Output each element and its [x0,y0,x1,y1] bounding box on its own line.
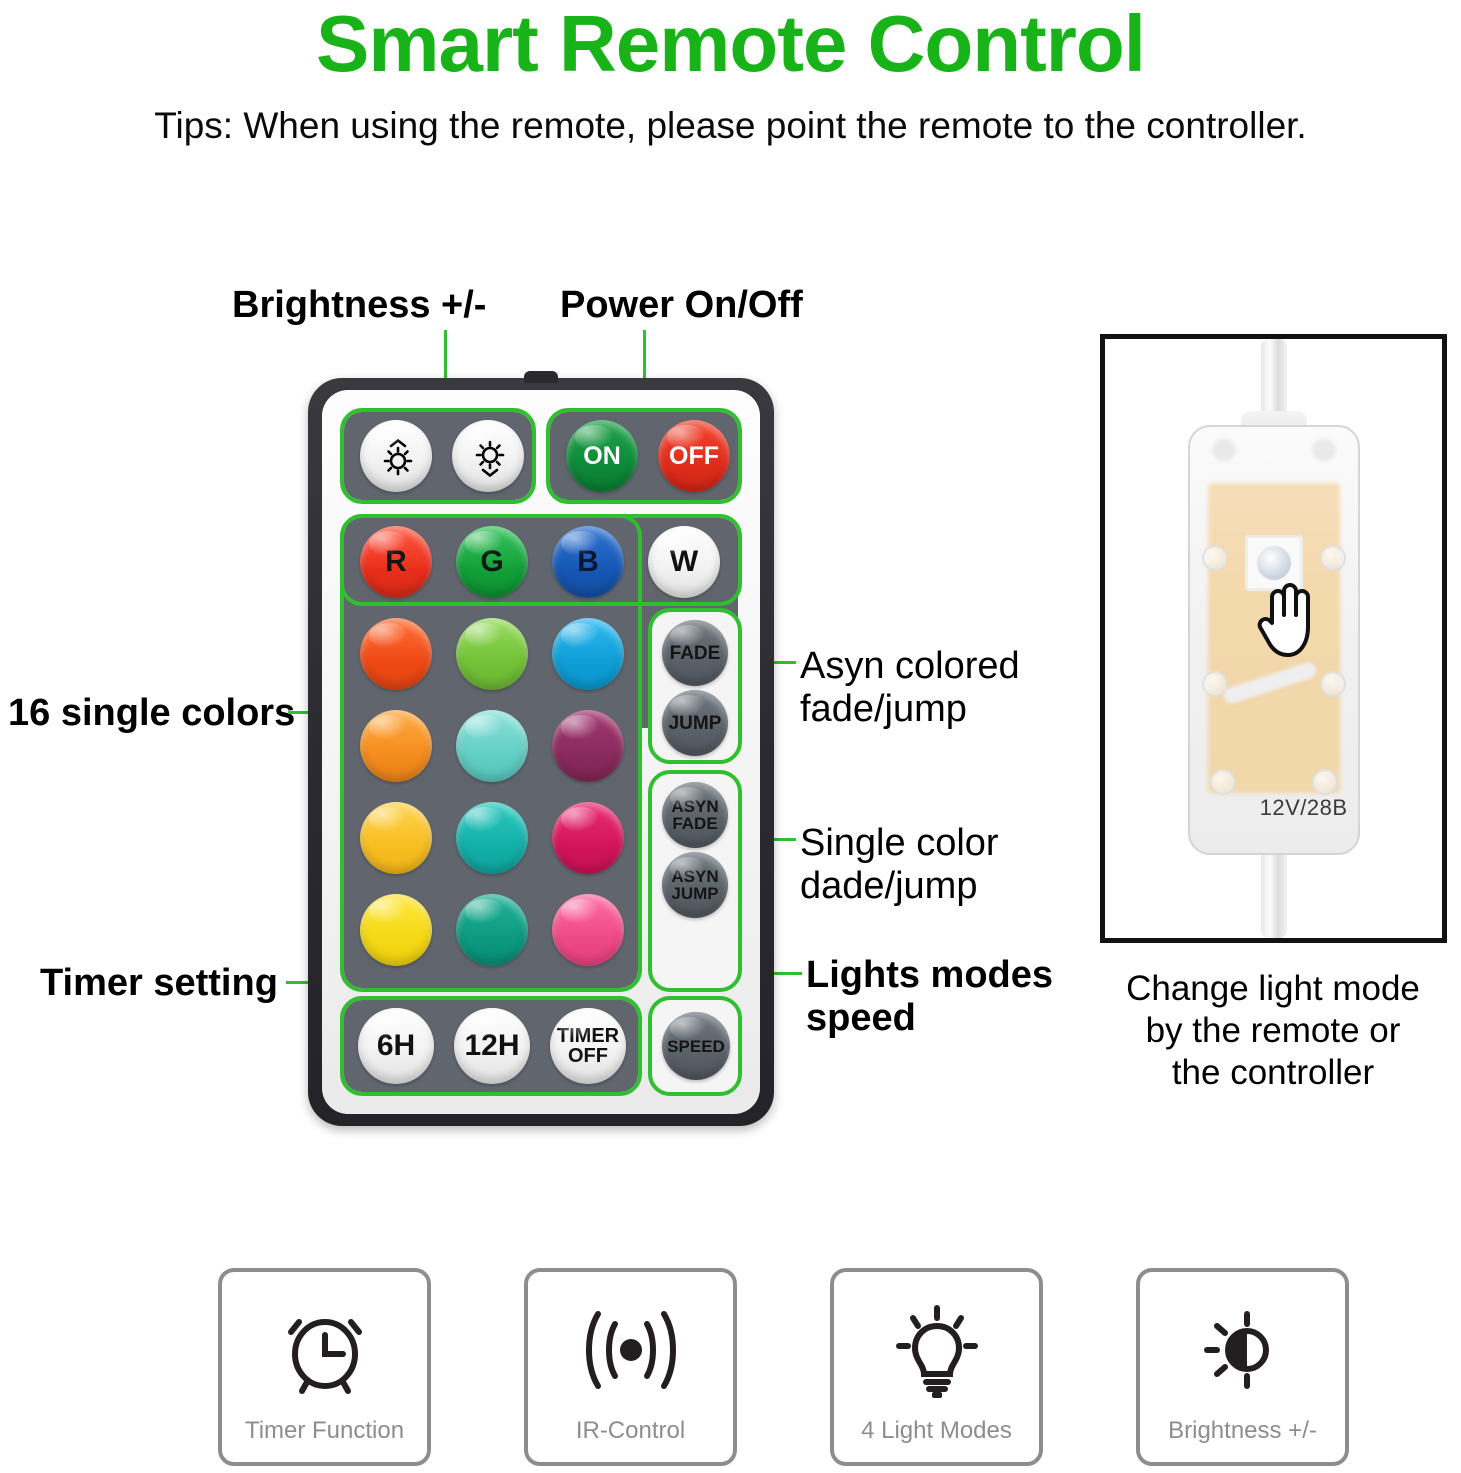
green-label: G [480,547,503,577]
pcb-screw-2 [1312,439,1336,461]
fade-button[interactable]: FADE [662,620,728,686]
timer-12h-label: 12H [464,1031,519,1061]
feature-caption-timer: Timer Function [222,1417,427,1445]
ir-emitter [524,371,558,383]
color-swatch-amber[interactable] [360,802,432,874]
voltage-label: 12V/28B [1260,795,1348,821]
asyn-fade-line-1: ASYN [671,798,718,815]
timer-6h-button[interactable]: 6H [358,1008,434,1084]
remote-control: ON OFF R G B W [308,378,774,1126]
asyn-fade-line-2: FADE [672,815,717,832]
callout-16-colors: 16 single colors [8,692,295,735]
color-swatch-orange-red[interactable] [360,618,432,690]
sun-up-icon [376,436,416,476]
page-subtitle: Tips: When using the remote, please poin… [0,104,1461,148]
alarm-clock-icon [222,1296,427,1404]
page-title: Smart Remote Control [0,2,1461,86]
callout-brightness: Brightness +/- [232,284,486,327]
asyn-jump-line-2: JUMP [671,885,718,902]
red-label: R [385,547,407,577]
timer-off-button[interactable]: TIMER OFF [550,1008,626,1084]
color-swatch-orange[interactable] [360,710,432,782]
controller-body: 12V/28B [1188,425,1360,855]
color-swatch-yellow[interactable] [360,894,432,966]
callout-single-color: Single color dade/jump [800,822,999,909]
speed-button[interactable]: SPEED [662,1012,730,1080]
color-swatch-purple[interactable] [552,710,624,782]
brightness-icon [1140,1296,1345,1404]
pcb-screw-6 [1320,671,1346,697]
light-bulb-icon [834,1296,1039,1404]
callout-asyn-fade-jump: Asyn colored fade/jump [800,645,1020,732]
pcb-screw-8 [1312,769,1338,795]
asyn-jump-line-1: ASYN [671,868,718,885]
callout-timer-setting: Timer setting [40,962,278,1005]
controller-caption: Change light mode by the remote or the c… [1078,968,1461,1094]
feature-card-brightness[interactable]: Brightness +/- [1136,1268,1349,1466]
color-swatch-pink[interactable] [552,894,624,966]
color-button-white[interactable]: W [648,526,720,598]
feature-cards: Timer Function IR-Control [0,1268,1461,1473]
pcb-screw-3 [1202,545,1228,571]
color-swatch-sky-blue[interactable] [552,618,624,690]
color-swatch-teal[interactable] [456,802,528,874]
jump-label: JUMP [669,714,722,733]
remote-faceplate: ON OFF R G B W [322,390,760,1114]
asyn-jump-button[interactable]: ASYN JUMP [662,852,728,918]
asyn-fade-button[interactable]: ASYN FADE [662,782,728,848]
blue-label: B [577,547,599,577]
color-button-blue[interactable]: B [552,526,624,598]
timer-off-line-1: TIMER [557,1026,619,1046]
color-button-green[interactable]: G [456,526,528,598]
color-swatch-aqua[interactable] [456,710,528,782]
power-on-label: ON [583,444,621,469]
color-swatch-magenta[interactable] [552,802,624,874]
pcb-screw-7 [1210,769,1236,795]
timer-off-line-2: OFF [568,1046,608,1066]
feature-caption-brightness: Brightness +/- [1140,1417,1345,1445]
color-swatch-green-teal[interactable] [456,894,528,966]
controller-photo-frame: 12V/28B [1100,334,1447,943]
power-off-label: OFF [669,444,719,469]
speed-label: SPEED [667,1038,725,1055]
brightness-down-button[interactable] [452,420,524,492]
sun-down-icon [468,436,508,476]
timer-6h-label: 6H [377,1031,415,1061]
color-button-red[interactable]: R [360,526,432,598]
feature-card-light-modes[interactable]: 4 Light Modes [830,1268,1043,1466]
power-off-button[interactable]: OFF [658,420,730,492]
fade-label: FADE [670,644,721,663]
ir-signal-icon [528,1296,733,1404]
white-label: W [670,547,698,577]
power-on-button[interactable]: ON [566,420,638,492]
callout-lights-modes-speed: Lights modes speed [806,954,1053,1041]
infographic-page: Smart Remote Control Tips: When using th… [0,0,1461,1473]
hand-pointer-icon [1250,575,1322,661]
feature-caption-ir: IR-Control [528,1417,733,1445]
pcb-screw-4 [1320,545,1346,571]
timer-12h-button[interactable]: 12H [454,1008,530,1084]
brightness-up-button[interactable] [360,420,432,492]
callout-power: Power On/Off [560,284,803,327]
feature-card-timer-function[interactable]: Timer Function [218,1268,431,1466]
feature-caption-modes: 4 Light Modes [834,1417,1039,1445]
pcb-screw-1 [1212,439,1236,461]
jump-button[interactable]: JUMP [662,690,728,756]
color-swatch-light-green[interactable] [456,618,528,690]
feature-card-ir-control[interactable]: IR-Control [524,1268,737,1466]
